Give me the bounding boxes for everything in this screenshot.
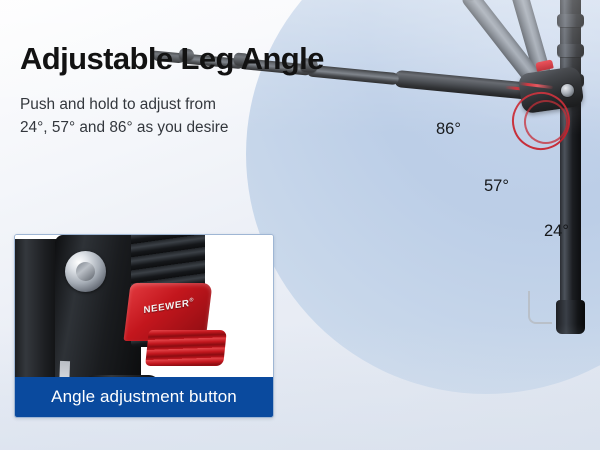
center-column-lock-1 (557, 14, 584, 27)
inset-caption-text: Angle adjustment button (51, 387, 237, 407)
angle-label-57: 57° (484, 177, 509, 196)
center-column-foot (556, 300, 585, 334)
angle-label-24: 24° (544, 222, 569, 241)
brand-logo-text: NEEWER (143, 298, 189, 316)
weight-hook (528, 300, 552, 324)
photo-pivot-bolt (65, 251, 106, 292)
inset-caption-banner: Angle adjustment button (15, 377, 273, 417)
page-title: Adjustable Leg Angle (20, 41, 324, 77)
hub-bolt (561, 84, 574, 97)
brand-trademark-mark: ® (189, 297, 194, 304)
brand-logo: NEEWER® (143, 297, 194, 316)
detail-inset-card: NEEWER® Angle adjustment button (14, 234, 274, 418)
photo-angle-lever: NEEWER® (123, 283, 227, 371)
angle-label-86: 86° (436, 120, 461, 139)
product-feature-banner: 86° 57° 24° Adjustable Leg Angle Push an… (0, 0, 600, 450)
center-column-lock-2 (557, 44, 584, 57)
page-subtitle: Push and hold to adjust from 24°, 57° an… (20, 93, 228, 139)
photo-lever-grip-ridges (145, 330, 227, 366)
